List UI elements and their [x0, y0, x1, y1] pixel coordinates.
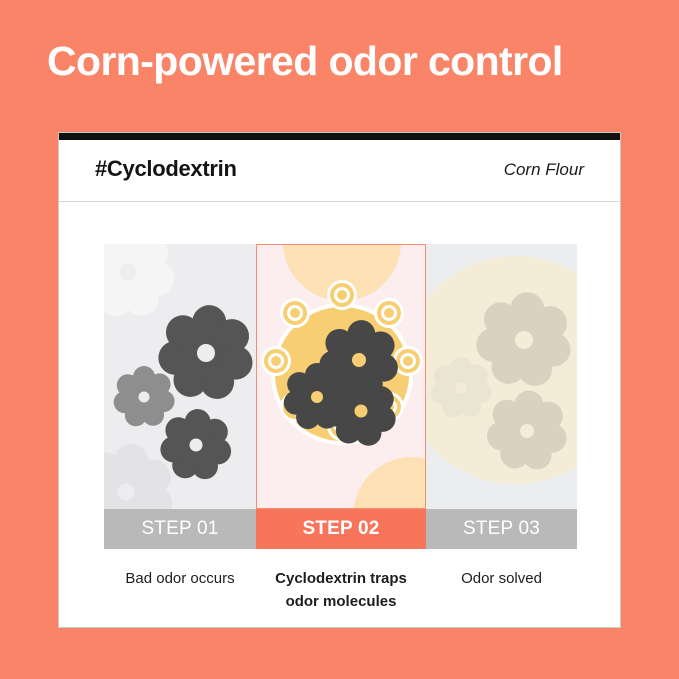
odor-molecule-icon — [325, 375, 397, 447]
cyclodextrin-ring-icon — [330, 283, 354, 307]
cyclodextrin-ring-icon — [396, 349, 420, 373]
step-1-illustration — [104, 244, 256, 509]
step-column-2: STEP 02 Cyclodextrin traps odor molecule… — [256, 244, 426, 613]
odor-molecule-icon — [160, 409, 232, 481]
step-2-caption: Cyclodextrin traps odor molecules — [256, 568, 426, 613]
odor-molecule-icon — [486, 390, 568, 472]
decorative-blob — [256, 244, 281, 245]
odor-molecule-icon — [430, 357, 492, 419]
hashtag-label: #Cyclodextrin — [95, 156, 237, 182]
decorative-blob — [353, 457, 426, 509]
step-2-label: STEP 02 — [256, 509, 426, 549]
step-1-label: STEP 01 — [104, 509, 256, 549]
steps-row: STEP 01 Bad odor occurs — [104, 244, 577, 613]
step-column-3: STEP 03 Odor solved — [426, 244, 577, 613]
step-3-label: STEP 03 — [426, 509, 577, 549]
step-column-1: STEP 01 Bad odor occurs — [104, 244, 256, 613]
infographic-card: #Cyclodextrin Corn Flour — [58, 132, 621, 628]
card-header: #Cyclodextrin Corn Flour — [59, 140, 620, 202]
step-3-caption: Odor solved — [426, 568, 577, 591]
brand-label: Corn Flour — [504, 160, 584, 180]
step-1-caption: Bad odor occurs — [104, 568, 256, 591]
step-3-illustration — [426, 244, 577, 509]
page-title: Corn-powered odor control — [47, 38, 647, 85]
card-top-accent-bar — [59, 133, 620, 140]
step-2-illustration — [256, 244, 426, 509]
cyclodextrin-ring-icon — [283, 301, 307, 325]
